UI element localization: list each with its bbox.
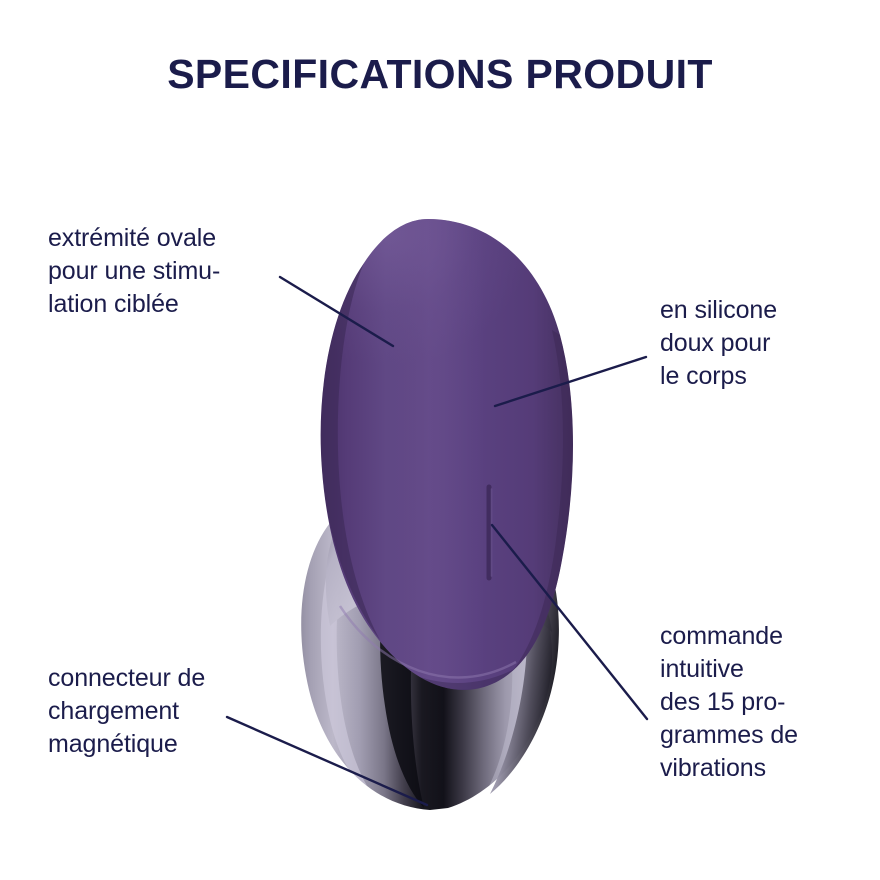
callout-controls: commande intuitive des 15 pro- grammes d… [660, 620, 878, 785]
control-button[interactable] [489, 487, 492, 578]
specification-diagram: SPECIFICATIONS PRODUIT [0, 0, 880, 880]
callout-silicone: en silicone doux pour le corps [660, 294, 875, 393]
callout-charger: connecteur de chargement magnétique [48, 662, 308, 761]
callout-oval-tip: extrémité ovale pour une stimu- lation c… [48, 222, 308, 321]
